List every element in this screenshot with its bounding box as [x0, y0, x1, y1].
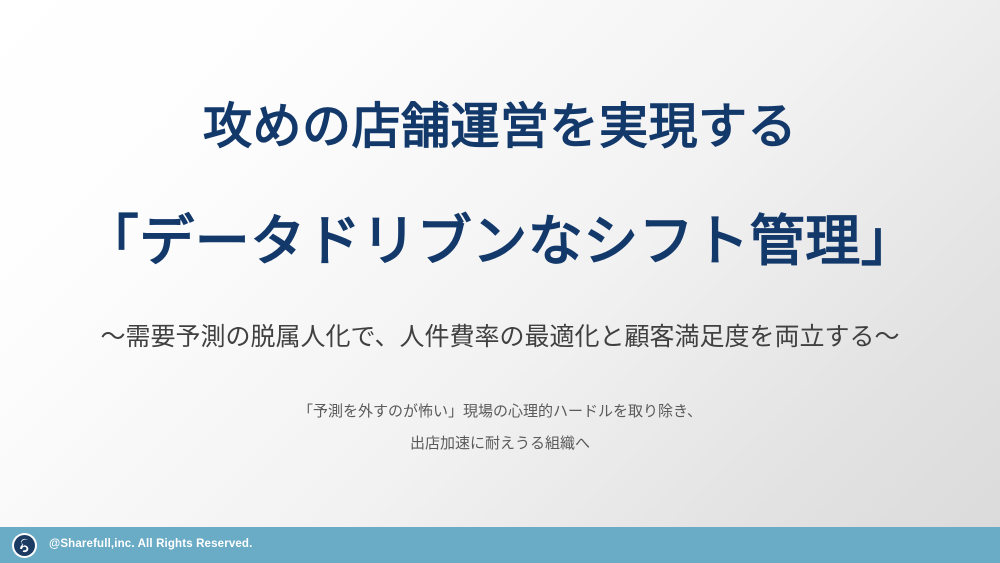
slide-footer: @Sharefull,inc. All Rights Reserved.	[0, 527, 1000, 563]
lead-line-2: 出店加速に耐えうる組織へ	[0, 428, 1000, 460]
slide-lead-text: 「予測を外すのが怖い」現場の心理的ハードルを取り除き、 出店加速に耐えうる組織へ	[0, 396, 1000, 459]
slide-content: 攻めの店舗運営を実現する 「データドリブンなシフト管理」 ～需要予測の脱属人化で…	[0, 0, 1000, 527]
lead-line-1: 「予測を外すのが怖い」現場の心理的ハードルを取り除き、	[0, 396, 1000, 428]
slide-subtitle: ～需要予測の脱属人化で、人件費率の最適化と顧客満足度を両立する～	[0, 322, 1000, 353]
slide-title-line-2: 「データドリブンなシフト管理」	[0, 214, 1000, 269]
sharefull-logo-icon	[12, 533, 37, 558]
title-slide: 攻めの店舗運営を実現する 「データドリブンなシフト管理」 ～需要予測の脱属人化で…	[0, 0, 1000, 563]
footer-copyright: @Sharefull,inc. All Rights Reserved.	[49, 539, 252, 551]
slide-title-line-1: 攻めの店舗運営を実現する	[0, 103, 1000, 152]
